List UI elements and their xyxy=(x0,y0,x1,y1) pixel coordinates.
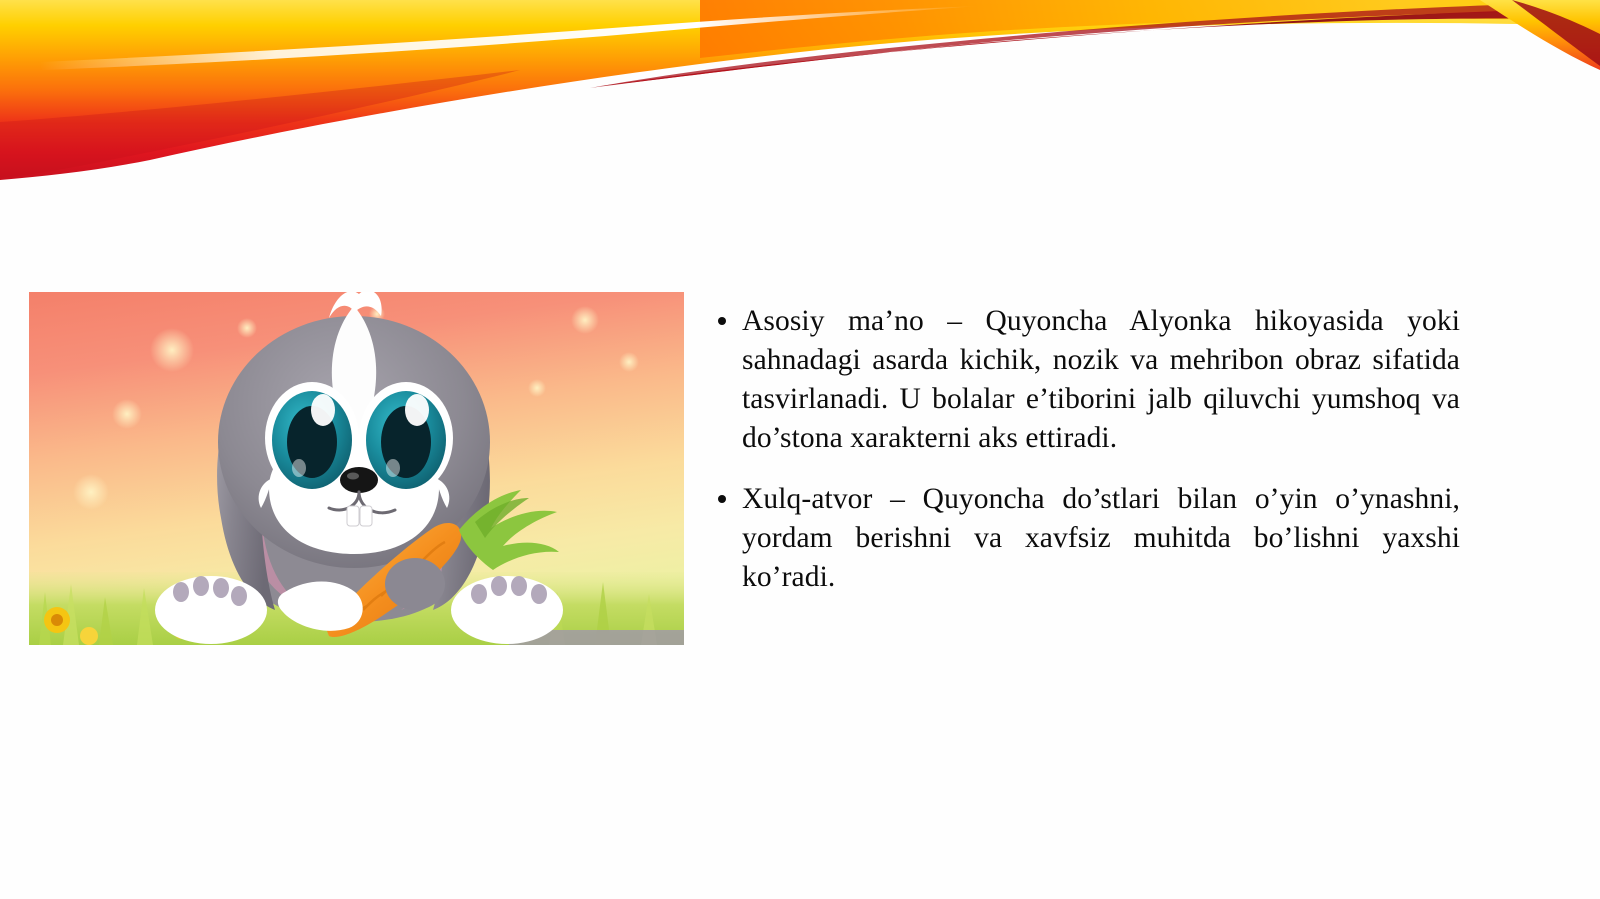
bullet-dot-icon xyxy=(718,495,726,503)
bunny-paw-grey xyxy=(385,558,445,610)
header-wave-decoration xyxy=(0,0,1600,200)
presentation-slide: Asosiy ma’no – Quyoncha Alyonka hikoyasi… xyxy=(0,0,1600,899)
wave-lower-shade xyxy=(0,70,520,178)
bunny-foot-right xyxy=(451,576,563,644)
wave-top-strip xyxy=(700,0,1600,58)
bunny-image xyxy=(29,292,684,645)
wave-svg xyxy=(0,0,1600,200)
bullet-dot-icon xyxy=(718,317,726,325)
wave-dark-red-ribbon xyxy=(600,8,1600,86)
bullet-list: Asosiy ma’no – Quyoncha Alyonka hikoyasi… xyxy=(716,302,1460,597)
wave-right-fan xyxy=(1480,0,1600,70)
list-item: Asosiy ma’no – Quyoncha Alyonka hikoyasi… xyxy=(716,302,1460,458)
list-item: Xulq-atvor – Quyoncha do’stlari bilan o’… xyxy=(716,480,1460,597)
bunny-nose xyxy=(340,467,378,493)
bunny-nose-shine xyxy=(347,473,359,480)
slide-content-row: Asosiy ma’no – Quyoncha Alyonka hikoyasi… xyxy=(0,280,1600,680)
bullet-text: Xulq-atvor – Quyoncha do’stlari bilan o’… xyxy=(742,480,1460,597)
wave-dark-red-ribbon-inner xyxy=(590,2,1600,88)
wave-main-body xyxy=(0,0,1600,180)
wave-main-highlight xyxy=(0,0,1600,180)
bullet-text: Asosiy ma’no – Quyoncha Alyonka hikoyasi… xyxy=(742,302,1460,458)
bunny-foot-left xyxy=(155,576,267,644)
wave-white-sliver xyxy=(40,6,980,70)
bunny-illustration-svg xyxy=(29,292,684,645)
bunny-tooth-left xyxy=(347,506,359,526)
wave-right-fan-stripe xyxy=(1512,0,1600,66)
bunny-tooth-right xyxy=(360,506,372,526)
